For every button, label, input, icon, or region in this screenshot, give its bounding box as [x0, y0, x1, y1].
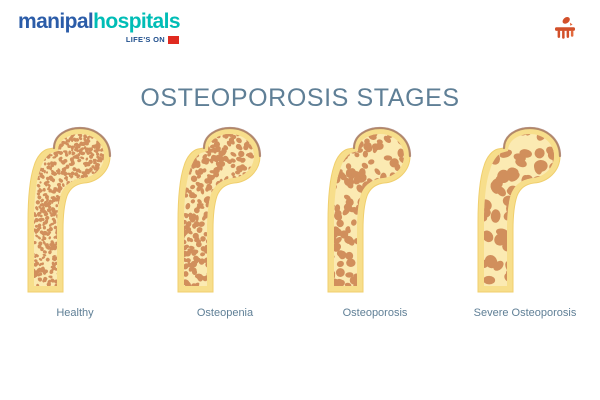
trabecula	[75, 207, 79, 211]
trabecula	[191, 139, 199, 146]
trabecula	[108, 217, 112, 222]
trabecula	[105, 272, 109, 277]
trabecula	[553, 221, 568, 235]
trabecula	[24, 161, 29, 166]
trabecula	[173, 183, 179, 188]
trabecula	[202, 129, 207, 136]
trabecula	[79, 228, 85, 234]
trabecula	[109, 253, 113, 257]
trabecula	[72, 199, 76, 204]
trabecula	[70, 257, 73, 261]
trabecula	[73, 278, 77, 283]
trabecula	[93, 264, 97, 268]
trabecula	[236, 232, 242, 236]
trabecula	[97, 214, 101, 218]
trabecula	[218, 246, 226, 254]
trabecula	[68, 256, 72, 260]
trabecula	[225, 218, 233, 226]
trabecula	[66, 206, 71, 211]
trabecula	[390, 191, 398, 201]
trabecula	[28, 163, 33, 168]
trabecula	[514, 260, 526, 271]
trabecula	[399, 243, 409, 252]
brand-accent-square-icon	[168, 36, 179, 44]
trabecula	[388, 187, 394, 193]
trabecula	[386, 242, 392, 249]
trabecula	[514, 259, 526, 270]
trabecula	[250, 196, 257, 203]
trabecula	[371, 269, 382, 280]
trabecula	[87, 219, 90, 222]
trabecula	[518, 213, 530, 225]
trabecula	[105, 179, 110, 184]
trabecula	[75, 271, 80, 277]
trabecula	[92, 188, 96, 193]
trabecula	[230, 284, 236, 291]
trabecula	[88, 198, 93, 203]
trabecula	[80, 224, 85, 229]
trabecula	[36, 151, 39, 155]
trabecula	[246, 227, 252, 232]
trabecula	[514, 206, 525, 217]
trabecula	[70, 231, 74, 235]
trabecula	[29, 146, 33, 151]
trabecula	[81, 277, 85, 280]
trabecula	[110, 189, 114, 192]
trabecula	[94, 260, 100, 266]
page-header: manipalhospitals LIFE'S ON	[0, 0, 600, 56]
trabecula	[59, 127, 63, 131]
trabecula	[28, 165, 32, 169]
trabecula	[85, 246, 89, 251]
trabecula	[73, 220, 78, 225]
trabecula	[255, 203, 261, 209]
trabecula	[97, 221, 102, 225]
trabecula	[93, 268, 97, 272]
trabecula	[69, 228, 75, 234]
trabecula	[74, 269, 78, 273]
trabecula	[100, 213, 104, 217]
trabecula	[98, 209, 102, 214]
trabecula	[66, 257, 70, 261]
trabecula	[238, 241, 246, 249]
trabecula	[226, 209, 234, 217]
trabecula	[330, 142, 342, 153]
trabecula	[49, 224, 52, 227]
trabecula	[215, 255, 220, 260]
trabecula	[80, 227, 85, 232]
trabecula	[327, 127, 334, 136]
trabecula	[106, 200, 109, 205]
trabecula	[221, 215, 229, 223]
trabecula	[78, 284, 83, 287]
trabecula	[241, 283, 246, 288]
trabecula	[105, 252, 109, 256]
trabecula	[198, 131, 206, 138]
trabecula	[79, 253, 83, 258]
trabecula	[259, 142, 263, 146]
trabecula	[108, 191, 112, 194]
trabecula	[552, 245, 563, 254]
trabecula	[73, 233, 78, 237]
trabecula	[72, 248, 76, 252]
trabecula	[542, 184, 552, 194]
trabecula	[105, 238, 110, 243]
trabecula	[407, 230, 414, 237]
trabecula	[533, 202, 545, 210]
trabecula	[66, 200, 71, 205]
trabecula	[197, 135, 202, 141]
trabecula	[371, 218, 380, 225]
trabecula	[50, 134, 54, 139]
trabecula	[391, 236, 403, 248]
trabecula	[391, 234, 402, 246]
trabecula	[104, 190, 109, 195]
trabecula	[221, 199, 228, 206]
trabecula	[98, 259, 102, 263]
trabecula	[79, 278, 84, 283]
trabecula	[245, 215, 254, 223]
trabecula	[110, 265, 114, 270]
trabecula	[75, 283, 79, 288]
trabecula	[382, 187, 393, 198]
trabecula	[215, 216, 222, 223]
trabecula	[91, 264, 95, 268]
trabecula	[103, 234, 107, 238]
trabecula	[83, 195, 88, 200]
trabecula	[176, 169, 181, 174]
trabecula	[107, 237, 111, 242]
trabecula	[366, 238, 375, 247]
trabecula	[102, 256, 106, 259]
trabecula	[257, 212, 265, 220]
brand-logo[interactable]: manipalhospitals LIFE'S ON	[18, 11, 180, 44]
trabecula	[229, 213, 236, 220]
trabecula	[87, 211, 90, 214]
trabecula	[366, 241, 376, 252]
femur-diagram-osteoporosis	[310, 126, 440, 301]
trabecula	[174, 200, 179, 205]
trabecula	[66, 258, 71, 263]
trabecula	[404, 174, 411, 183]
trabecula	[82, 277, 86, 280]
trabecula	[236, 217, 242, 223]
trabecula	[79, 191, 84, 195]
trabecula	[102, 288, 107, 292]
trabecula	[388, 256, 397, 265]
trabecula	[101, 217, 105, 221]
trabecula	[102, 228, 105, 232]
trabecula	[43, 140, 47, 143]
trabecula	[250, 261, 256, 267]
trabecula	[85, 289, 89, 292]
trabecula	[73, 201, 77, 204]
trabecula	[92, 260, 98, 266]
bone-joint-head	[561, 16, 571, 25]
trabecula	[215, 235, 220, 242]
trabecula	[97, 249, 101, 253]
trabecula	[75, 196, 79, 200]
bone-joint-icon[interactable]	[550, 12, 580, 42]
trabecula	[43, 134, 48, 138]
trabecula	[101, 252, 105, 256]
trabecula	[106, 290, 110, 294]
trabecula	[73, 210, 76, 212]
trabecula	[92, 235, 96, 239]
trabecula	[234, 268, 241, 274]
trabecula	[71, 259, 75, 263]
stage-item-osteopenia: Osteopenia	[155, 126, 295, 319]
trabecula	[545, 212, 561, 229]
trabecula	[175, 155, 179, 160]
trabecula	[66, 221, 71, 226]
trabecula	[68, 247, 72, 251]
trabecula	[92, 237, 98, 243]
trabecula	[95, 211, 98, 216]
trabecula	[96, 244, 100, 248]
trabecula	[68, 215, 73, 220]
trabecula	[92, 289, 96, 293]
bone-joint-prong-4	[571, 30, 574, 36]
trabecula	[363, 242, 370, 248]
trabecula	[84, 259, 89, 265]
trabecula	[82, 189, 87, 193]
trabecula	[106, 272, 111, 277]
trabecula	[177, 129, 182, 134]
trabecula	[246, 245, 253, 252]
trabecula	[68, 201, 73, 206]
trabecula	[105, 226, 109, 231]
trabecula	[87, 205, 91, 208]
trabecula	[223, 283, 227, 288]
trabecula	[95, 248, 99, 252]
trabecula	[42, 132, 46, 135]
trabecula	[70, 239, 74, 244]
trabecula	[89, 285, 92, 289]
trabecula	[90, 210, 95, 215]
trabecula	[95, 233, 99, 237]
trabecula	[70, 211, 74, 214]
trabecula	[87, 253, 92, 257]
trabecula	[244, 255, 251, 262]
trabecula	[216, 205, 224, 213]
trabecula	[109, 190, 115, 196]
trabecula	[188, 131, 196, 139]
trabecula	[107, 272, 111, 276]
trabecula	[105, 204, 109, 209]
trabecula	[549, 281, 561, 293]
trabecula	[367, 242, 376, 252]
trabecula	[69, 241, 73, 245]
trabecula	[231, 235, 236, 240]
trabecula	[77, 222, 82, 227]
trabecula	[40, 144, 45, 149]
trabecula	[85, 209, 90, 214]
trabecula	[79, 188, 82, 192]
trabecula	[363, 219, 373, 229]
trabecula	[80, 198, 83, 201]
trabecula	[527, 240, 541, 254]
trabecula	[228, 232, 235, 239]
trabecula	[252, 257, 256, 263]
trabecula	[90, 249, 95, 254]
trabecula	[45, 135, 50, 138]
trabecula	[98, 261, 103, 266]
trabecula	[535, 245, 548, 259]
trabecula	[239, 218, 245, 224]
trabecula	[92, 212, 97, 215]
trabecula	[97, 263, 101, 267]
trabecula	[77, 267, 82, 272]
trabecula	[100, 181, 105, 186]
trabecula	[71, 237, 76, 242]
trabecula	[540, 217, 552, 226]
stage-item-osteoporosis: Osteoporosis	[305, 126, 445, 319]
trabecula	[215, 259, 223, 267]
trabecula	[217, 267, 227, 277]
trabecula	[534, 202, 550, 219]
trabecula	[551, 240, 566, 251]
trabecula	[36, 140, 40, 144]
trabecula	[473, 148, 481, 156]
trabecula	[244, 267, 252, 275]
trabecula	[108, 130, 112, 134]
trabecula	[90, 218, 95, 223]
trabecula	[214, 282, 220, 289]
trabecula	[96, 252, 101, 255]
trabecula	[240, 229, 248, 236]
trabecula	[97, 254, 101, 258]
trabecula	[224, 231, 229, 236]
stage-item-severe-osteoporosis: Severe Osteoporosis	[455, 126, 595, 319]
trabecula	[69, 254, 75, 260]
trabecula	[86, 241, 91, 245]
trabecula	[258, 222, 265, 228]
trabecula	[215, 261, 221, 266]
trabecula	[86, 193, 91, 198]
trabecula	[233, 201, 242, 210]
trabecula	[94, 212, 98, 216]
trabecula	[75, 234, 81, 240]
trabecula	[83, 251, 87, 255]
trabecula	[218, 222, 223, 228]
trabecula	[71, 204, 75, 208]
trabecula	[226, 248, 232, 254]
trabecula	[530, 212, 543, 222]
trabecula	[364, 250, 375, 261]
trabecula	[70, 273, 74, 277]
trabecula	[256, 198, 261, 204]
trabecula	[110, 191, 114, 194]
trabecula	[105, 249, 109, 252]
trabecula	[96, 261, 100, 264]
trabecula	[83, 247, 86, 250]
trabecula	[25, 166, 29, 169]
trabecula	[396, 219, 408, 231]
trabecula	[255, 232, 261, 239]
trabecula	[93, 281, 97, 285]
trabecula	[65, 228, 69, 231]
trabecula	[183, 133, 190, 140]
trabecula	[244, 236, 250, 241]
trabecula	[81, 186, 86, 191]
trabecula	[99, 130, 102, 133]
trabecula	[73, 285, 79, 291]
trabecula	[74, 220, 80, 226]
trabecula	[252, 229, 257, 236]
trabecula	[72, 277, 77, 282]
trabecula	[245, 196, 251, 202]
trabecula	[72, 261, 77, 266]
trabecula	[75, 266, 79, 270]
trabecula	[55, 131, 60, 134]
trabecula	[104, 286, 108, 289]
trabecula	[74, 286, 79, 291]
trabecula	[247, 222, 252, 229]
trabecula	[87, 260, 92, 265]
trabecula	[105, 283, 108, 287]
trabecula	[91, 255, 97, 261]
trabecula	[94, 192, 99, 197]
trabecula	[216, 224, 222, 231]
trabecula	[75, 224, 78, 227]
trabecula	[82, 286, 87, 290]
trabecula	[85, 253, 88, 256]
trabecula	[69, 277, 73, 281]
trabecula	[104, 257, 108, 261]
trabecula	[107, 229, 111, 232]
trabecula	[372, 239, 384, 251]
trabecula	[79, 213, 83, 217]
trabecula	[365, 273, 374, 281]
trabecula	[229, 285, 235, 289]
trabecula	[407, 242, 415, 252]
trabecula	[79, 254, 82, 257]
trabecula	[74, 288, 78, 291]
trabecula	[35, 149, 39, 153]
trabecula	[80, 218, 84, 221]
trabecula	[34, 153, 38, 157]
trabecula	[107, 240, 112, 245]
trabecula	[541, 272, 551, 284]
trabecula	[390, 281, 398, 288]
trabecula	[232, 194, 237, 200]
trabecula	[240, 288, 245, 293]
trabecula	[253, 247, 260, 255]
trabecula	[110, 174, 113, 178]
trabecula	[68, 283, 72, 288]
trabecula	[70, 274, 74, 278]
trabecula	[76, 225, 80, 229]
trabecula	[27, 148, 32, 153]
trabecula	[231, 243, 236, 248]
trabecula	[398, 210, 407, 218]
trabecula	[230, 284, 237, 292]
trabecula	[237, 281, 243, 288]
bone-joint-prong-3	[567, 30, 570, 38]
trabecula	[81, 239, 86, 243]
trabecula	[81, 269, 84, 274]
trabecula	[65, 277, 69, 281]
trabecula	[255, 250, 262, 255]
trabecula	[72, 198, 76, 202]
brand-word-secondary: hospitals	[93, 10, 180, 33]
trabecula	[89, 288, 94, 291]
trabecula	[219, 273, 225, 279]
trabecula	[78, 199, 81, 203]
stage-label-severe-osteoporosis: Severe Osteoporosis	[474, 307, 577, 319]
trabecula	[101, 130, 106, 135]
